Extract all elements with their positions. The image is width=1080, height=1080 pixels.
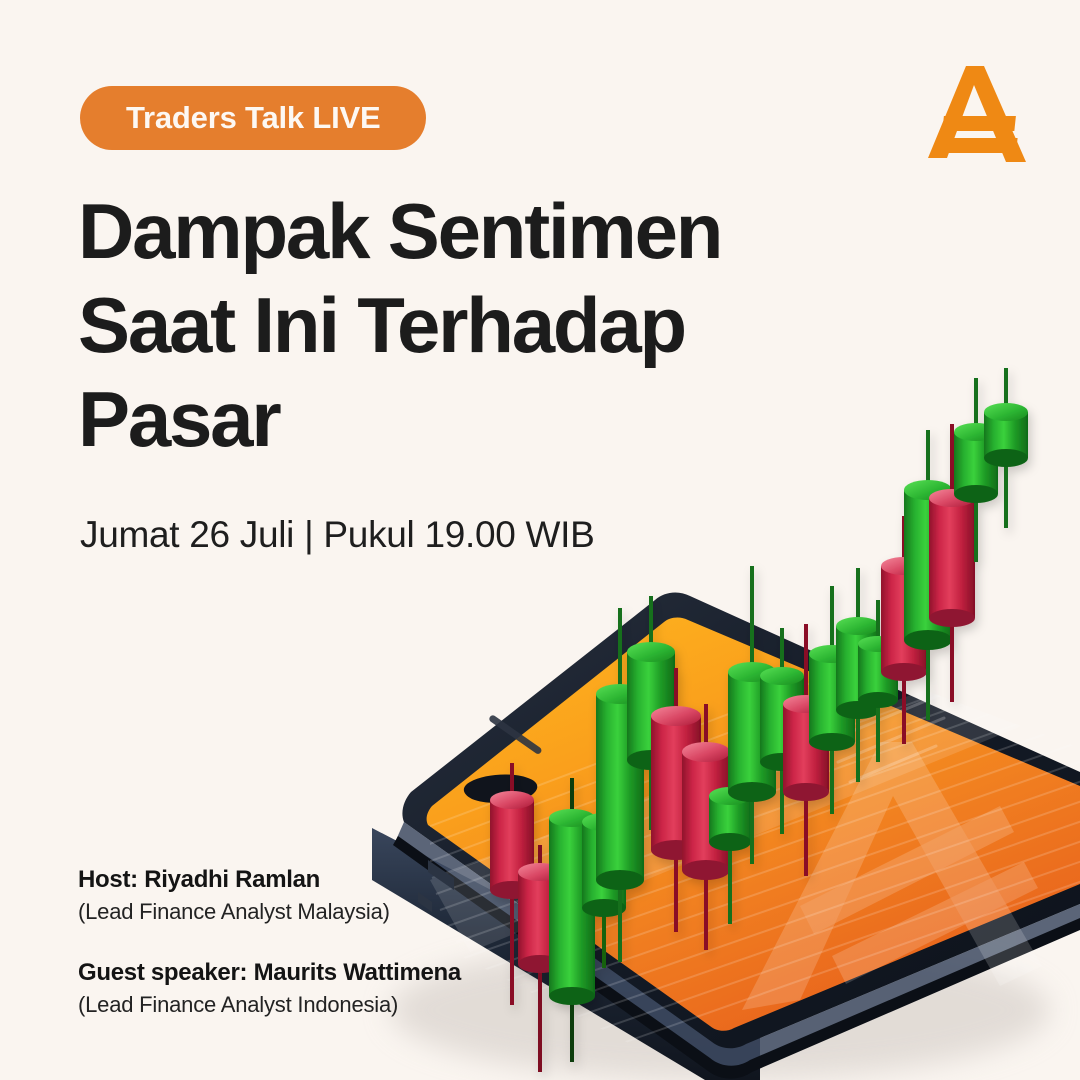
datetime-separator: | — [304, 514, 313, 556]
host-name: Host: Riyadhi Ramlan — [78, 866, 461, 894]
headline-line-3: Pasar — [78, 380, 838, 458]
headline-line-1: Dampak Sentimen — [78, 192, 838, 270]
event-date: Jumat 26 Juli — [80, 514, 294, 555]
promo-poster: Traders Talk LIVE Dampak Sentimen Saat I… — [0, 0, 1080, 1080]
candle-bull-20 — [984, 368, 1028, 528]
headline-line-2: Saat Ini Terhadap — [78, 286, 838, 364]
event-datetime: Jumat 26 Juli|Pukul 19.00 WIB — [80, 514, 595, 556]
speaker-guest: Guest speaker: Maurits Wattimena (Lead F… — [78, 959, 461, 1018]
speaker-list: Host: Riyadhi Ramlan (Lead Finance Analy… — [78, 866, 461, 1052]
event-time: Pukul 19.00 WIB — [323, 514, 594, 555]
page-title: Dampak Sentimen Saat Ini Terhadap Pasar — [78, 192, 838, 474]
live-badge: Traders Talk LIVE — [80, 86, 426, 150]
guest-role: (Lead Finance Analyst Indonesia) — [78, 992, 461, 1018]
brand-a-logo — [922, 58, 1032, 166]
guest-name: Guest speaker: Maurits Wattimena — [78, 959, 461, 987]
host-role: (Lead Finance Analyst Malaysia) — [78, 899, 461, 925]
speaker-host: Host: Riyadhi Ramlan (Lead Finance Analy… — [78, 866, 461, 925]
live-badge-label: Traders Talk LIVE — [126, 100, 380, 136]
